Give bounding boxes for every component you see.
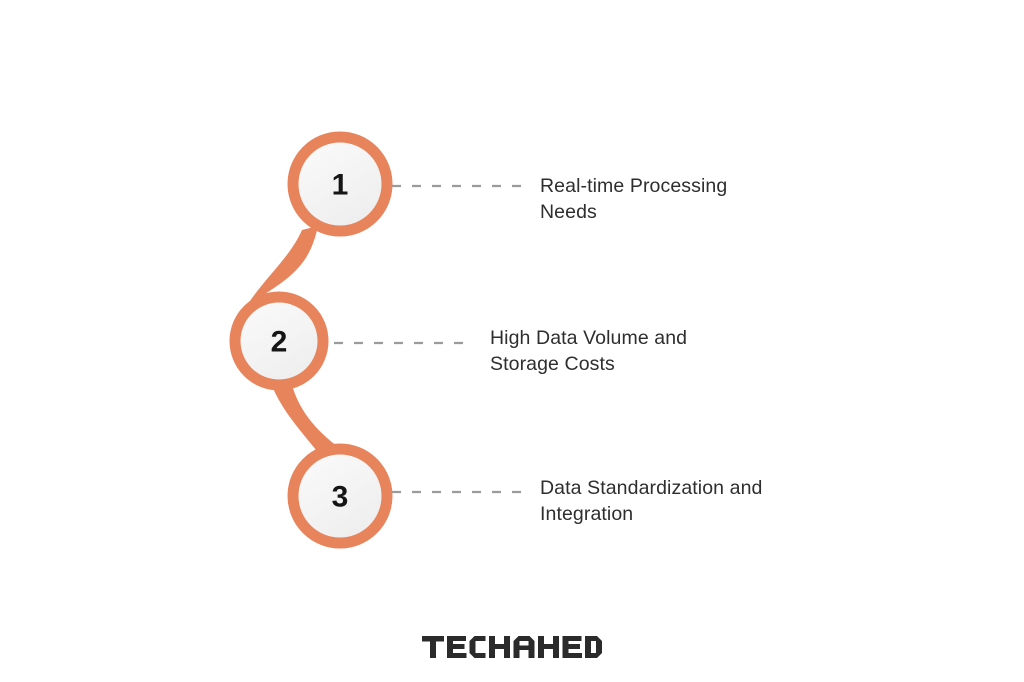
step-number-1: 1: [332, 169, 349, 202]
step-label-3: Data Standardization and Integration: [540, 475, 840, 527]
infographic-canvas: 1 2 3 Real-time Processing Needs High Da…: [0, 0, 1024, 682]
step-node-3[interactable]: 3: [293, 449, 387, 543]
techahead-wordmark: [422, 632, 602, 662]
step-label-2: High Data Volume and Storage Costs: [490, 325, 760, 377]
step-label-1: Real-time Processing Needs: [540, 173, 800, 225]
techahead-logo: [0, 630, 1024, 662]
step-number-2: 2: [271, 326, 288, 359]
step-node-1[interactable]: 1: [293, 137, 387, 231]
step-number-3: 3: [332, 481, 349, 514]
step-node-2[interactable]: 2: [235, 297, 323, 385]
